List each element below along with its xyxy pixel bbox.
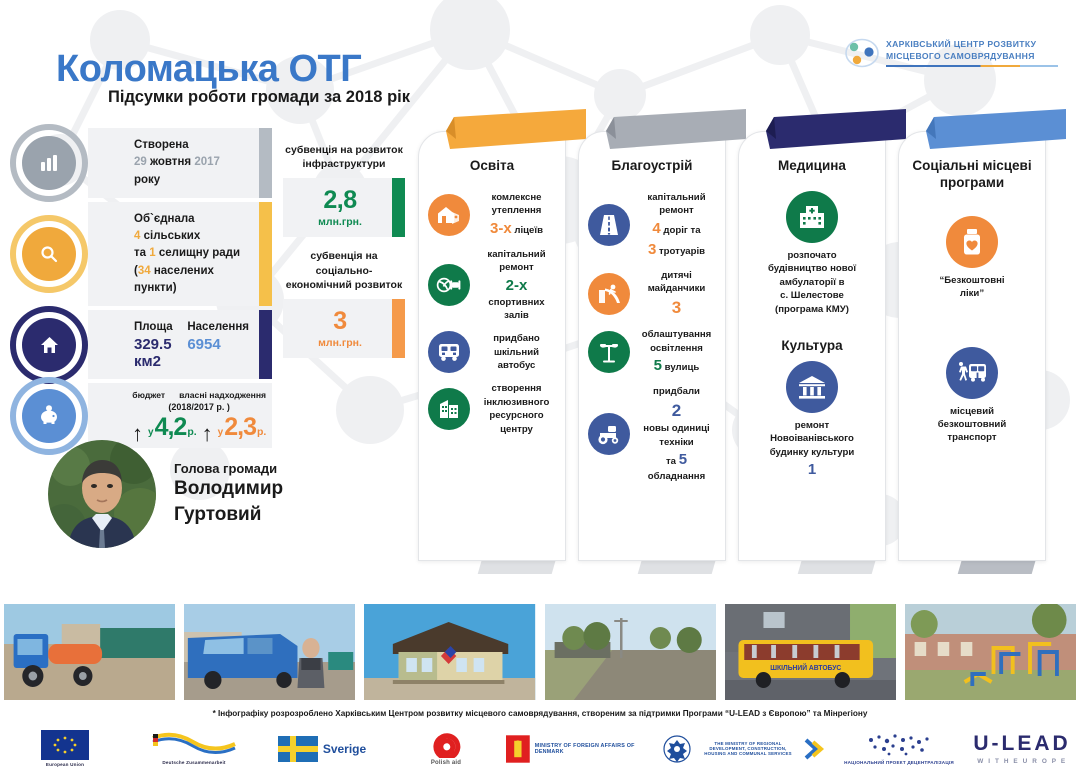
imp-playground-number: 3 xyxy=(637,296,716,320)
subsidy-2-value: 3 xyxy=(289,309,391,334)
minregion-logo: THE MINISTRY OF REGIONAL DEVELOPMENT, CO… xyxy=(654,734,834,764)
imp-lighting-number: 5 xyxy=(654,357,662,374)
med-ambulatory-line1: розпочато xyxy=(768,249,856,262)
social-item-free-transport: місцевий безкоштовний транспорт xyxy=(908,347,1036,445)
culture-house-line1: ремонт xyxy=(770,419,855,432)
imp-machinery-line3: новы одиниці техніки xyxy=(637,422,716,449)
yellow-school-bus-photo: ШКІЛЬНИЙ АВТОБУС xyxy=(725,604,896,700)
card-improvement: Благоустрій капітальний ремонт 4 доріг т… xyxy=(578,131,726,561)
community-head-role: Голова громади xyxy=(174,461,283,476)
imp-item-machinery: придбали 2 новы одиниці техніки та 5 обл… xyxy=(588,385,716,483)
imp-roads-number2: 3 xyxy=(648,241,656,258)
card-title-education: Освіта xyxy=(428,158,556,175)
subsidy-1-box: 2,8 млн.грн. xyxy=(283,178,405,237)
bus-passenger-icon xyxy=(946,347,998,399)
social-item-free-medicine: “Безкоштовні ліки” xyxy=(908,216,1036,301)
row-edge-amber xyxy=(259,202,272,306)
subsidy-1-unit: млн.грн. xyxy=(289,216,391,228)
budget-v1-prefix: у xyxy=(148,427,154,438)
social-medicine-line2: ліки” xyxy=(939,287,1004,300)
card-medicine-culture: Медицина розпочато будівництво нової амб… xyxy=(738,131,886,561)
merged-settlements-count: 34 xyxy=(138,265,151,277)
created-month: жовтня xyxy=(150,156,191,168)
edu-item-inclusive-center: створення інклюзивного ресурсного центру xyxy=(428,382,556,436)
subsidy-2-caption: субвенція на соціально-економічний розви… xyxy=(283,249,405,292)
imp-lighting-line2: освітлення xyxy=(637,342,716,355)
edu-bus-line3: автобус xyxy=(477,359,556,372)
social-transport-line3: транспорт xyxy=(938,431,1006,444)
house-insulation-icon xyxy=(428,194,470,236)
medicine-bottle-icon xyxy=(946,216,998,268)
network-nodes-icon xyxy=(845,38,879,68)
brand-underline xyxy=(886,65,1058,67)
created-label: Створена xyxy=(134,137,249,154)
community-stats-panel: Створена 29 жовтня 2017 року Об`єднала 4… xyxy=(32,128,272,452)
ribbon-banner-medicine xyxy=(766,109,906,153)
imp-roads-line1: капітальний xyxy=(637,191,716,204)
budget-v1-number: 4,2 xyxy=(155,413,187,442)
imp-roads-line2: ремонт xyxy=(637,204,716,217)
subsidies-panel: субвенція на розвиток інфраструктури 2,8… xyxy=(283,143,405,358)
imp-machinery-line4: обладнання xyxy=(648,471,705,482)
med-ambulatory-line5: (програма КМУ) xyxy=(768,303,856,316)
outdoor-gym-playground-photo xyxy=(905,604,1076,700)
subsidy-2-bar xyxy=(392,299,405,358)
blue-van-with-driver-photo xyxy=(184,604,355,700)
kharkiv-center-logo: ХАРКІВСЬКИЙ ЦЕНТР РОЗВИТКУ МІСЦЕВОГО САМ… xyxy=(845,38,1058,68)
tractor-icon xyxy=(588,413,630,455)
inclusive-center-icon xyxy=(428,388,470,430)
med-item-ambulatory: розпочато будівництво нової амбулаторії … xyxy=(748,191,876,316)
card-sheet-improvement: Благоустрій капітальний ремонт 4 доріг т… xyxy=(578,131,726,561)
edu-gym-line1: капітальний xyxy=(477,248,556,261)
area-label: Площа xyxy=(134,319,173,336)
card-title-culture: Культура xyxy=(748,338,876,353)
school-bus-icon xyxy=(428,331,470,373)
sports-gym-icon xyxy=(428,264,470,306)
card-sheet-medicine: Медицина розпочато будівництво нової амб… xyxy=(738,131,886,561)
edu-insulation-number: 3-х xyxy=(490,220,512,237)
budget-v2-prefix: у xyxy=(218,427,224,438)
sverige-logo-caption: Sverige xyxy=(323,742,366,756)
merged-and: та xyxy=(134,247,146,259)
bar-chart-icon xyxy=(10,124,88,202)
budget-period: (2018/2017 р. ) xyxy=(132,402,266,412)
merged-rural-label: сільських xyxy=(144,230,201,242)
page-title: Коломацька ОТГ xyxy=(56,48,361,91)
edu-inclusive-line3: ресурсного центру xyxy=(477,409,556,436)
page-subtitle: Підсумки роботи громади за 2018 рік xyxy=(108,88,410,107)
european-union-logo: European Union xyxy=(0,730,130,767)
subsidy-2-unit: млн.грн. xyxy=(289,337,391,349)
community-head-last-name: Гуртовий xyxy=(174,502,283,528)
home-icon xyxy=(10,306,88,384)
imp-item-lighting: облаштування освітлення 5 вулиць xyxy=(588,328,716,376)
imp-roads-line3: доріг та xyxy=(663,225,700,236)
school-bus-caption: ШКІЛЬНИЙ АВТОБУС xyxy=(770,663,841,672)
edu-item-bus: придбано шкільний автобус xyxy=(428,331,556,373)
stat-row-area-population: Площа 329.5 км2 Населення 6954 xyxy=(32,310,272,379)
edu-bus-line1: придбано xyxy=(477,332,556,345)
population-value: 6954 xyxy=(187,336,249,353)
street-lamp-icon xyxy=(588,331,630,373)
polish-aid-logo: Polish aid xyxy=(386,732,506,766)
stat-row-created: Створена 29 жовтня 2017 року xyxy=(32,128,272,198)
edu-inclusive-line2: інклюзивного xyxy=(477,396,556,409)
germany-cooperation-logo: Deutsche Zusammenarbeit xyxy=(130,732,258,765)
row-edge-navy xyxy=(259,310,272,379)
road-repair-icon xyxy=(588,204,630,246)
photo-strip: ШКІЛЬНИЙ АВТОБУС xyxy=(0,604,1080,700)
edu-insulation-line2: утеплення xyxy=(477,204,556,217)
portrait-photo xyxy=(48,440,156,548)
med-ambulatory-line2: будівництво нової xyxy=(768,262,856,275)
imp-item-roads: капітальний ремонт 4 доріг та 3 тротуарі… xyxy=(588,191,716,260)
imp-playground-line1: дитячі xyxy=(637,269,716,282)
hospital-icon xyxy=(786,191,838,243)
card-education: Освіта комлексне утеплення 3-х ліцеїв xyxy=(418,131,566,561)
edu-insulation-line1: комлексне xyxy=(477,191,556,204)
card-social-programs: Соціальні місцеві програми “Безкоштовні … xyxy=(898,131,1046,561)
eu-logo-caption: European Union xyxy=(46,762,84,767)
magnifier-icon xyxy=(10,215,88,293)
subsidy-1-caption: субвенція на розвиток інфраструктури xyxy=(283,143,405,171)
polish-aid-caption: Polish aid xyxy=(431,760,461,766)
community-head-block: Голова громади Володимир Гуртовий xyxy=(48,440,283,548)
merged-settlement-label: селищну ради xyxy=(159,247,240,259)
budget-v2-suffix: р. xyxy=(257,426,266,438)
budget-v1-suffix: р. xyxy=(187,426,196,438)
created-suffix: року xyxy=(134,174,160,186)
denmark-mfa-logo: MINISTRY OF FOREIGN AFFAIRS OF DENMARK xyxy=(506,734,654,764)
card-sheet-social: Соціальні місцеві програми “Безкоштовні … xyxy=(898,131,1046,561)
brand-line-1: ХАРКІВСЬКИЙ ЦЕНТР РОЗВИТКУ xyxy=(886,39,1058,51)
footer-logos: European Union Deutsche Zusammenarbeit S… xyxy=(0,726,1080,771)
culture-item-house: ремонт Новоіванівського будинку культури… xyxy=(748,361,876,480)
social-medicine-line1: “Безкоштовні xyxy=(939,274,1004,287)
merged-label: Об`єднала xyxy=(134,211,249,228)
imp-playground-line2: майданчики xyxy=(637,282,716,295)
blue-water-truck-photo xyxy=(4,604,175,700)
decentralization-logo: НАЦІОНАЛЬНИЙ ПРОЕКТ ДЕЦЕНТРАЛІЗАЦІЯ xyxy=(834,732,964,765)
budget-col1-label: бюджет xyxy=(132,390,165,400)
social-transport-line1: місцевий xyxy=(938,405,1006,418)
stat-row-budget: бюджет власні надходження (2018/2017 р. … xyxy=(32,383,272,448)
merged-rural-count: 4 xyxy=(134,230,140,242)
footer-note: * Інфографіку розрозроблено Харківським … xyxy=(0,709,1080,718)
u-lead-caption: U-LEAD xyxy=(973,732,1070,755)
card-title-improvement: Благоустрій xyxy=(588,158,716,175)
card-sheet-education: Освіта комлексне утеплення 3-х ліцеїв xyxy=(418,131,566,561)
edu-gym-line3: спортивних залів xyxy=(477,296,556,323)
imp-roads-line4: тротуарів xyxy=(659,246,705,257)
decentralization-caption: НАЦІОНАЛЬНИЙ ПРОЕКТ ДЕЦЕНТРАЛІЗАЦІЯ xyxy=(844,760,954,765)
card-title-medicine: Медицина xyxy=(748,158,876,175)
imp-roads-number: 4 xyxy=(652,220,660,237)
merged-settlement-count: 1 xyxy=(149,247,155,259)
stat-row-merged: Об`єднала 4 сільських та 1 селищну ради … xyxy=(32,202,272,306)
imp-machinery-number2: 5 xyxy=(679,451,687,468)
budget-col2-label: власні надходження xyxy=(179,390,266,400)
imp-lighting-line3: вулиць xyxy=(665,362,700,373)
new-building-render-photo xyxy=(364,604,535,700)
edu-item-gym: капітальний ремонт 2-х спортивних залів xyxy=(428,248,556,323)
minregion-caption: THE MINISTRY OF REGIONAL DEVELOPMENT, CO… xyxy=(698,741,798,756)
budget-v2-number: 2,3 xyxy=(224,413,256,442)
sweden-sverige-logo: Sverige xyxy=(258,736,386,762)
merged-paren-close: ) xyxy=(173,282,177,294)
edu-gym-line2: ремонт xyxy=(477,261,556,274)
brand-line-2: МІСЦЕВОГО САМОВРЯДУВАННЯ xyxy=(886,51,1058,63)
med-ambulatory-line4: с. Шелестове xyxy=(768,289,856,302)
edu-item-insulation: комлексне утеплення 3-х ліцеїв xyxy=(428,191,556,239)
u-lead-sub: W I T H E U R O P E xyxy=(977,758,1067,765)
community-head-first-name: Володимир xyxy=(174,476,283,502)
culture-house-icon xyxy=(786,361,838,413)
culture-house-number: 1 xyxy=(770,459,855,480)
playground-slide-icon xyxy=(588,273,630,315)
denmark-logo-caption: MINISTRY OF FOREIGN AFFAIRS OF DENMARK xyxy=(535,743,654,755)
created-day: 29 xyxy=(134,156,147,168)
ribbon-banner-social xyxy=(926,109,1066,153)
village-road-photo xyxy=(545,604,716,700)
edu-bus-line2: шкільний xyxy=(477,346,556,359)
edu-insulation-line3: ліцеїв xyxy=(514,225,543,236)
med-ambulatory-line3: амбулаторії в xyxy=(768,276,856,289)
population-label: Населення xyxy=(187,319,249,336)
subsidy-1-bar xyxy=(392,178,405,237)
germany-logo-caption: Deutsche Zusammenarbeit xyxy=(162,760,225,765)
ribbon-banner-education xyxy=(446,109,586,153)
ribbon-banner-improvement xyxy=(606,109,746,153)
area-value: 329.5 км2 xyxy=(134,336,173,370)
subsidy-2-box: 3 млн.грн. xyxy=(283,299,405,358)
culture-house-line3: будинку культури xyxy=(770,446,855,459)
created-year: 2017 xyxy=(194,156,220,168)
social-transport-line2: безкоштовний xyxy=(938,418,1006,431)
edu-inclusive-line1: створення xyxy=(477,382,556,395)
imp-item-playgrounds: дитячі майданчики 3 xyxy=(588,269,716,320)
edu-gym-number: 2-х xyxy=(477,275,556,296)
imp-machinery-line4-pre: та xyxy=(666,456,676,467)
imp-machinery-number: 2 xyxy=(637,399,716,423)
subsidy-1-value: 2,8 xyxy=(289,188,391,213)
u-lead-logo: U-LEAD W I T H E U R O P E xyxy=(964,732,1080,765)
culture-house-line2: Новоіванівського xyxy=(770,432,855,445)
imp-machinery-line1: придбали xyxy=(637,385,716,398)
row-edge-gray xyxy=(259,128,272,198)
card-title-social: Соціальні місцеві програми xyxy=(908,158,1036,192)
imp-lighting-line1: облаштування xyxy=(637,328,716,341)
